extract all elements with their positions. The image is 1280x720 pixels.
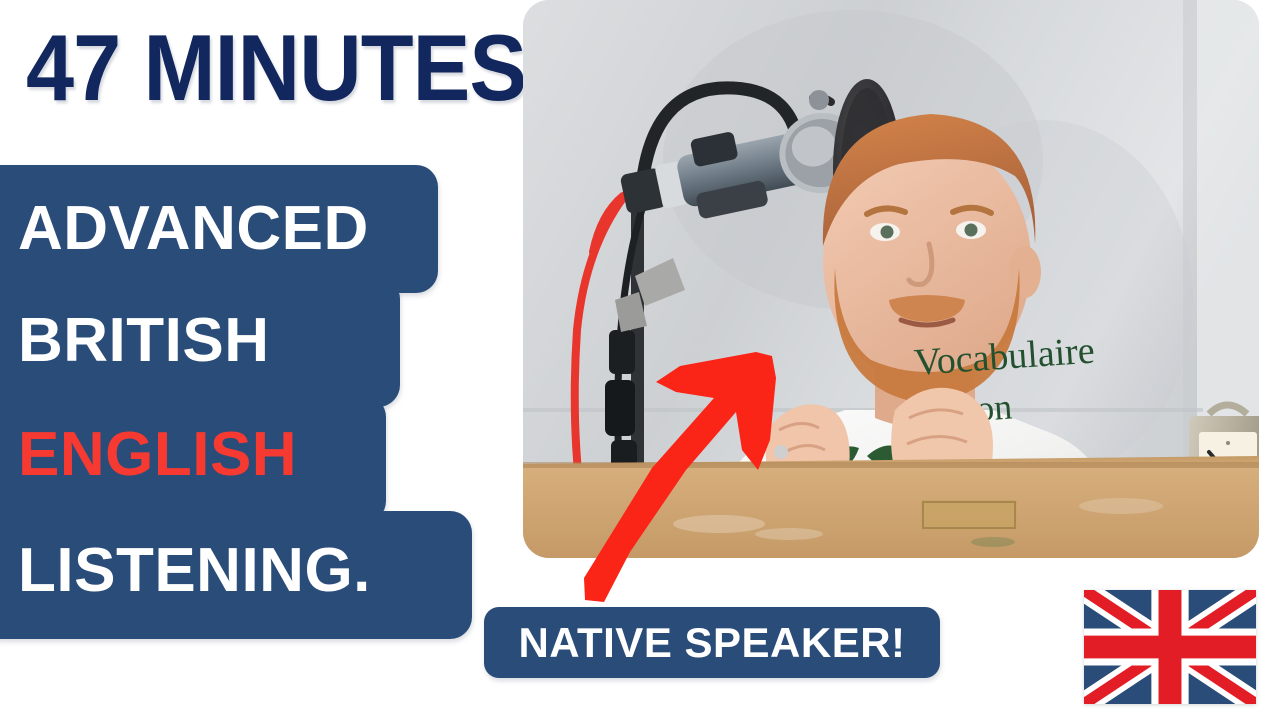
title-line-british: BRITISH [18,310,270,372]
title-line-listening: LISTENING. [18,540,371,602]
native-speaker-badge: NATIVE SPEAKER! [484,607,940,678]
presenter-photo: Vocabulaire sition ise [523,0,1259,558]
title-line-advanced: ADVANCED [18,198,369,260]
united-kingdom-flag-icon [1084,590,1256,704]
title-line-english: ENGLISH [18,424,297,486]
native-speaker-badge-label: NATIVE SPEAKER! [484,607,940,678]
video-thumbnail: 47 MINUTES ADVANCED BRITISH ENGLISH LIST… [0,0,1280,720]
page-title: 47 MINUTES [26,16,526,120]
